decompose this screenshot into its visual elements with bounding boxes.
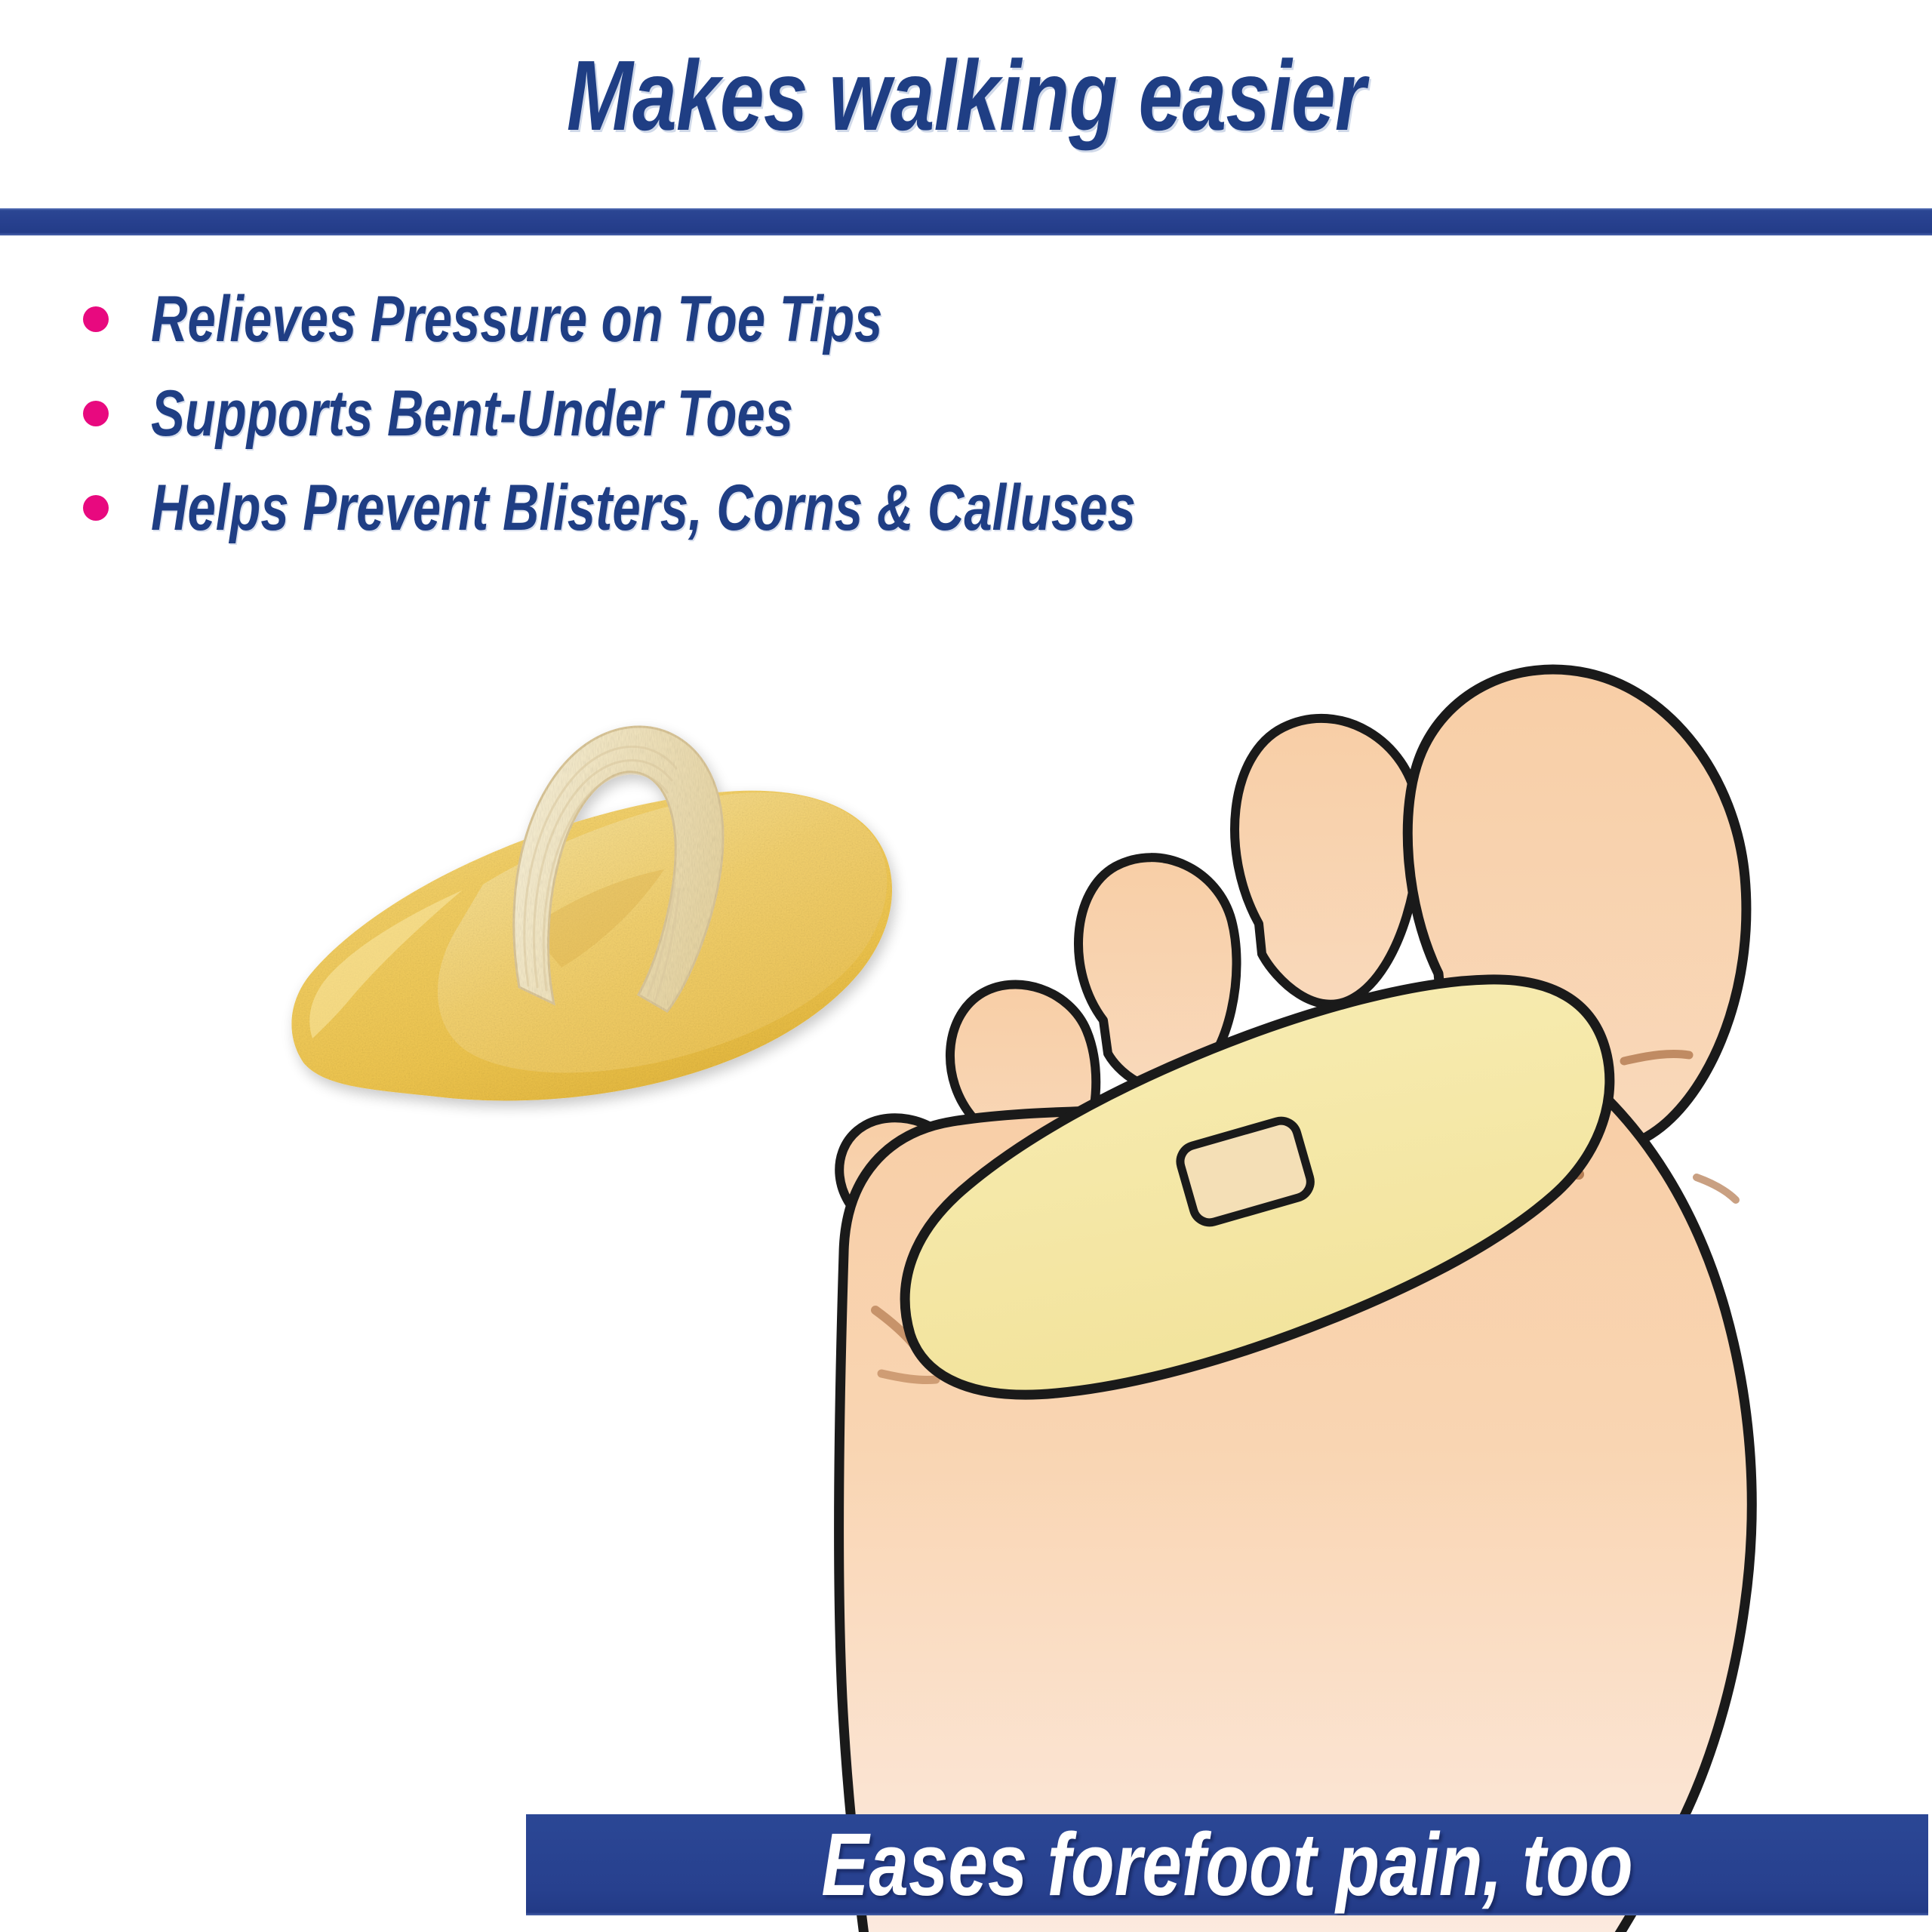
pad-loop-shadow <box>528 869 664 968</box>
skin-crease-line <box>875 1310 918 1349</box>
elastic-loop-ribbing <box>525 746 679 1001</box>
skin-crease-line <box>1697 1177 1736 1200</box>
benefit-label: Helps Prevent Blisters, Corns & Calluses <box>151 474 1136 542</box>
benefit-label: Supports Bent-Under Toes <box>151 380 793 448</box>
skin-crease-line <box>1624 1054 1689 1061</box>
bullet-dot-icon <box>83 306 109 332</box>
list-item: Relieves Pressure on Toe Tips <box>72 272 1657 366</box>
list-item: Supports Bent-Under Toes <box>72 366 1657 460</box>
foot-sole-diagram <box>839 669 1752 1932</box>
toe-big <box>1407 669 1746 1155</box>
bottom-banner: Eases forefoot pain, too <box>526 1814 1928 1915</box>
page-title: Makes walking easier <box>193 39 1739 152</box>
list-item: Helps Prevent Blisters, Corns & Calluses <box>72 460 1657 555</box>
benefits-list: Relieves Pressure on Toe Tips Supports B… <box>72 272 1657 555</box>
header-divider-bar <box>0 208 1932 235</box>
elastic-toe-loop <box>514 727 723 1011</box>
benefit-label: Relieves Pressure on Toe Tips <box>151 285 882 353</box>
skin-crease-line <box>1470 1153 1579 1174</box>
pad-felt-top-surface <box>438 792 887 1072</box>
pad-cutout-window <box>1177 1117 1315 1226</box>
toe-third <box>1078 857 1237 1089</box>
toe-fifth <box>839 1118 971 1279</box>
toe-second <box>1235 718 1419 1004</box>
foot-sole-body <box>839 1040 1752 1932</box>
toe-fourth <box>950 984 1096 1185</box>
pad-felt-body <box>291 791 892 1101</box>
product-feature-graphic: Makes walking easier Relieves Pressure o… <box>0 0 1932 1932</box>
pad-highlight <box>309 891 462 1038</box>
skin-crease-line <box>1485 1081 1582 1089</box>
applied-crest-pad <box>905 980 1610 1395</box>
skin-crease-line <box>881 1374 936 1380</box>
bullet-dot-icon <box>83 495 109 521</box>
bottom-banner-text: Eases forefoot pain, too <box>821 1820 1632 1910</box>
bullet-dot-icon <box>83 401 109 426</box>
toe-crest-pad-photo <box>291 727 892 1101</box>
